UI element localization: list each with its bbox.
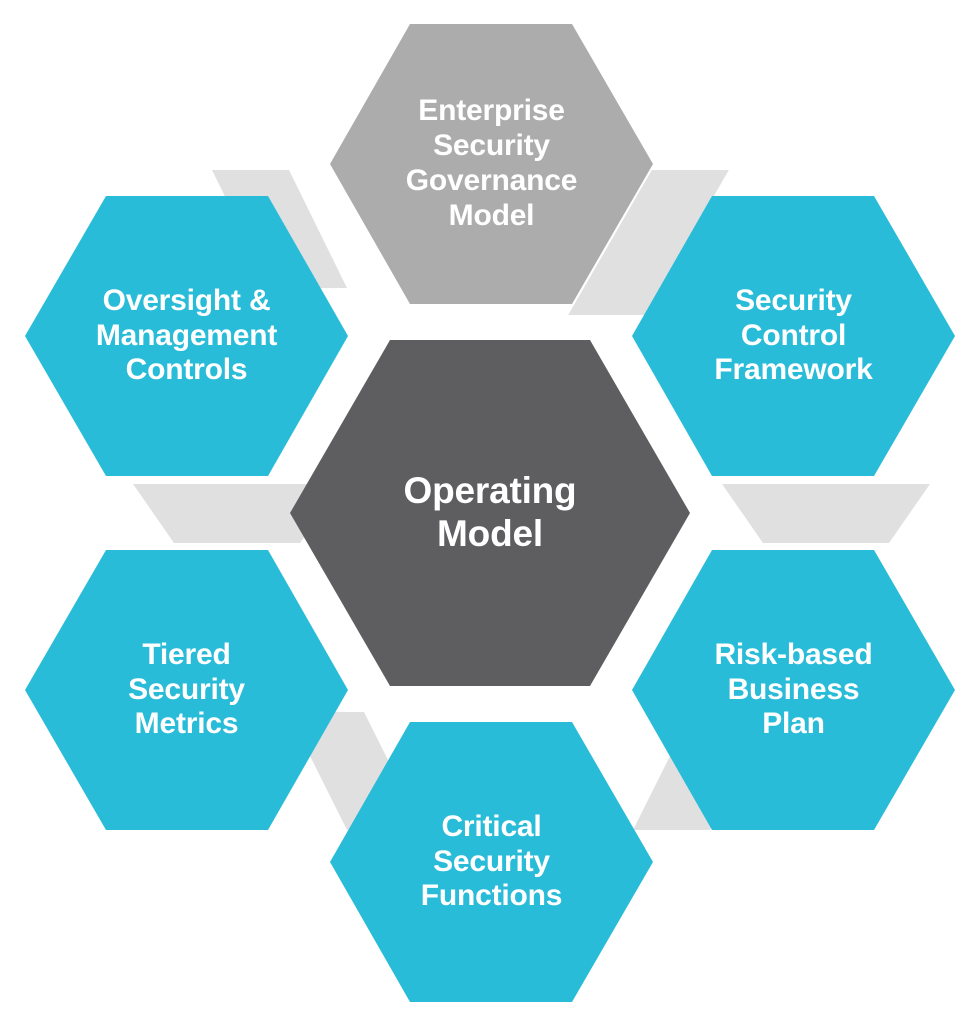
hexagon-diagram: Enterprise Security Governance Model Sec… <box>0 0 980 1026</box>
connector-top-right-to-bottom-right <box>722 484 930 543</box>
hexagon-tiered-security-metrics[interactable] <box>25 550 348 830</box>
hexagon-operating-model[interactable] <box>290 340 690 686</box>
hexagon-diagram-canvas <box>0 0 980 1026</box>
